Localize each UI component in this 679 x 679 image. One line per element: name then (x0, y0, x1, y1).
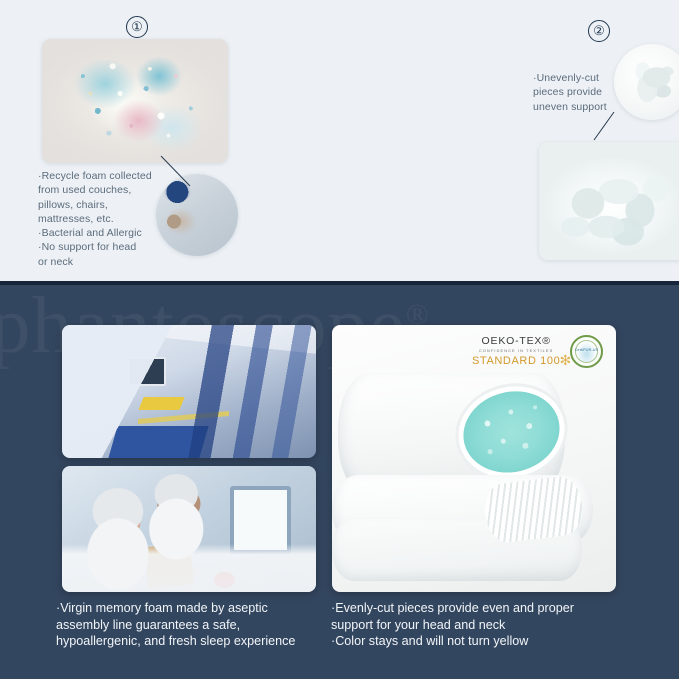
clipboard (144, 543, 194, 589)
oeko-tex-title: OEKO-TEX® (472, 335, 560, 347)
emergency-stop-button (214, 572, 234, 588)
control-monitor (230, 486, 291, 554)
virgin-foam-caption: ·Virgin memory foam made by aseptic asse… (60, 600, 332, 650)
pillow-striped-layer (482, 474, 585, 544)
bullet-line: from used couches, (41, 184, 169, 197)
machine-blue-base (108, 426, 209, 458)
knitting-machine-photo (62, 325, 316, 458)
caption-line: support for your head and neck (335, 617, 647, 634)
bullet-line: ·Recycle foam collected (41, 170, 169, 183)
comparison-section: ① ·Recycle foam collected from used couc… (0, 0, 679, 281)
machine-screen (128, 357, 166, 386)
pillow-product-photo: OEKO-TEX® CONFIDENCE IN TEXTILES STANDAR… (332, 325, 616, 592)
oeko-tex-badge: OEKO-TEX® CONFIDENCE IN TEXTILES STANDAR… (472, 335, 560, 367)
oeko-tex-standard: STANDARD 100 (472, 355, 560, 367)
bullet-line: pillows, chairs, (41, 199, 169, 212)
step-panel-2: ② ·Unevenly-cut pieces provide uneven su… (262, 0, 460, 281)
certipur-seal-icon: CertiPUR-US (570, 335, 603, 368)
bullet-line: or neck (41, 256, 169, 269)
recycled-shredded-foam-photo (42, 39, 228, 163)
bullet-line: ·Bacterial and Allergic (41, 227, 169, 240)
bullet-line: mattresses, etc. (41, 213, 169, 226)
machine-rail (138, 411, 229, 424)
machine-yellow-tray (138, 397, 184, 410)
step-badge-1: ① (126, 16, 148, 38)
seal-label: CertiPUR-US (572, 348, 601, 352)
step-panel-3: ③ ·Unevenly-cut small pieces provide une… (460, 0, 679, 281)
connector-line-3 (460, 0, 679, 281)
step-panel-1: ① ·Recycle foam collected from used couc… (0, 0, 262, 281)
bullet-line: ·No support for head (41, 241, 169, 254)
caption-line: ·Virgin memory foam made by aseptic (60, 600, 332, 617)
caption-line: ·Evenly-cut pieces provide even and prop… (335, 600, 647, 617)
caption-line: hypoallergenic, and fresh sleep experien… (60, 633, 332, 650)
evenly-cut-caption: ·Evenly-cut pieces provide even and prop… (335, 600, 647, 650)
lab-workers-photo (62, 466, 316, 592)
caption-line: ·Color stays and will not turn yellow (335, 633, 647, 650)
caption-line: assembly line guarantees a safe, (60, 617, 332, 634)
step-1-description: ·Recycle foam collected from used couche… (41, 170, 169, 270)
oeko-tex-subtitle: CONFIDENCE IN TEXTILES (472, 348, 560, 353)
